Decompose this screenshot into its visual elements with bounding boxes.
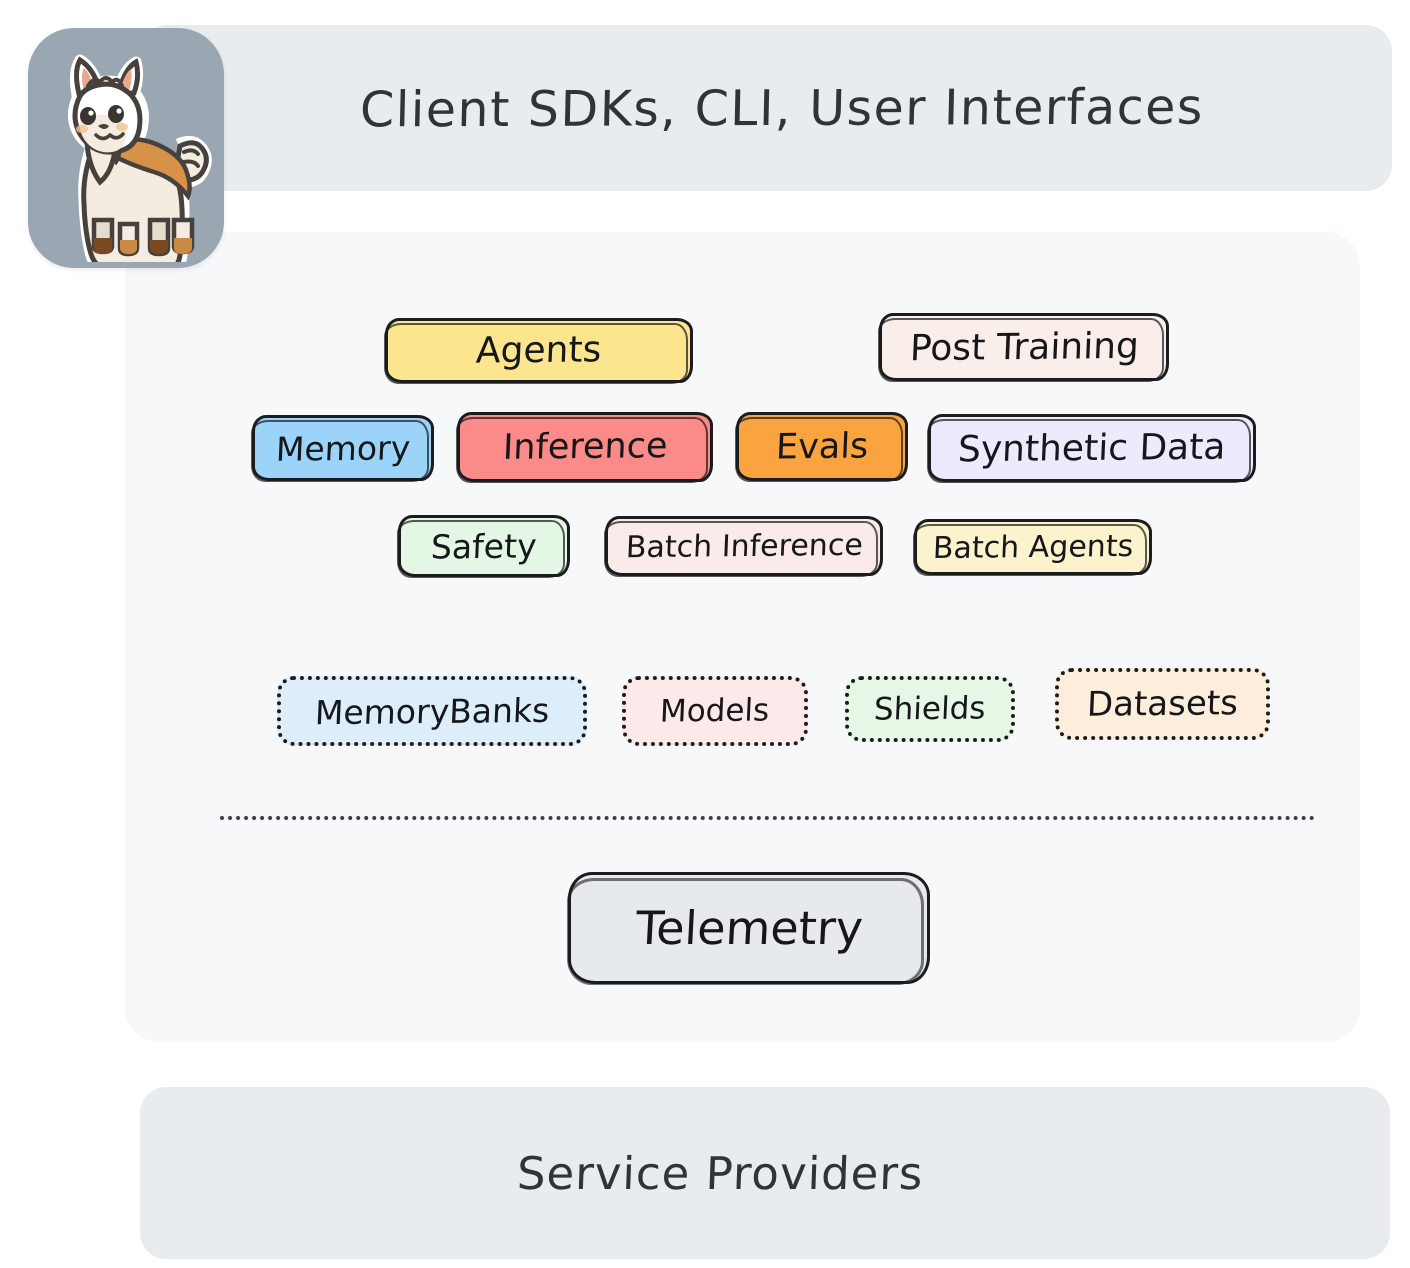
- api-node-label: Inference: [502, 426, 668, 468]
- resource-node-label: MemoryBanks: [314, 690, 550, 731]
- dotted-divider: [220, 816, 1315, 820]
- resource-node-models[interactable]: Models: [622, 676, 808, 746]
- resource-node-label: Shields: [873, 690, 986, 727]
- api-node-evals[interactable]: Evals: [736, 412, 908, 481]
- resource-node-shields[interactable]: Shields: [845, 676, 1015, 742]
- api-node-inference[interactable]: Inference: [457, 412, 713, 482]
- api-node-synthetic-data[interactable]: Synthetic Data: [928, 414, 1256, 482]
- client-layer-title: Client SDKs, CLI, User Interfaces: [329, 78, 1204, 138]
- api-node-label: Memory: [275, 428, 411, 468]
- api-node-label: Safety: [430, 526, 537, 566]
- telemetry-node[interactable]: Telemetry: [568, 872, 930, 984]
- api-node-label: Agents: [475, 329, 602, 371]
- api-node-label: Batch Agents: [932, 528, 1134, 565]
- telemetry-label: Telemetry: [634, 901, 864, 955]
- api-node-batch-inference[interactable]: Batch Inference: [605, 516, 883, 576]
- api-node-label: Post Training: [909, 325, 1140, 368]
- diagram-canvas: Client SDKs, CLI, User Interfaces: [0, 0, 1410, 1268]
- client-layer-bar: Client SDKs, CLI, User Interfaces: [142, 25, 1392, 191]
- api-node-label: Synthetic Data: [957, 426, 1226, 470]
- api-node-label: Batch Inference: [625, 527, 863, 564]
- api-node-memory[interactable]: Memory: [252, 415, 434, 481]
- resource-node-memorybanks[interactable]: MemoryBanks: [277, 676, 587, 746]
- api-node-agents[interactable]: Agents: [385, 318, 693, 383]
- llama-logo-tile: [28, 28, 224, 268]
- api-node-post-training[interactable]: Post Training: [879, 313, 1169, 381]
- resource-node-label: Models: [660, 692, 771, 729]
- api-node-label: Evals: [775, 426, 869, 467]
- service-providers-bar: Service Providers: [140, 1087, 1390, 1259]
- resource-node-label: Datasets: [1086, 683, 1239, 725]
- api-node-safety[interactable]: Safety: [398, 515, 570, 577]
- api-node-batch-agents[interactable]: Batch Agents: [914, 519, 1152, 575]
- resource-node-datasets[interactable]: Datasets: [1055, 668, 1270, 740]
- service-providers-title: Service Providers: [516, 1147, 1014, 1200]
